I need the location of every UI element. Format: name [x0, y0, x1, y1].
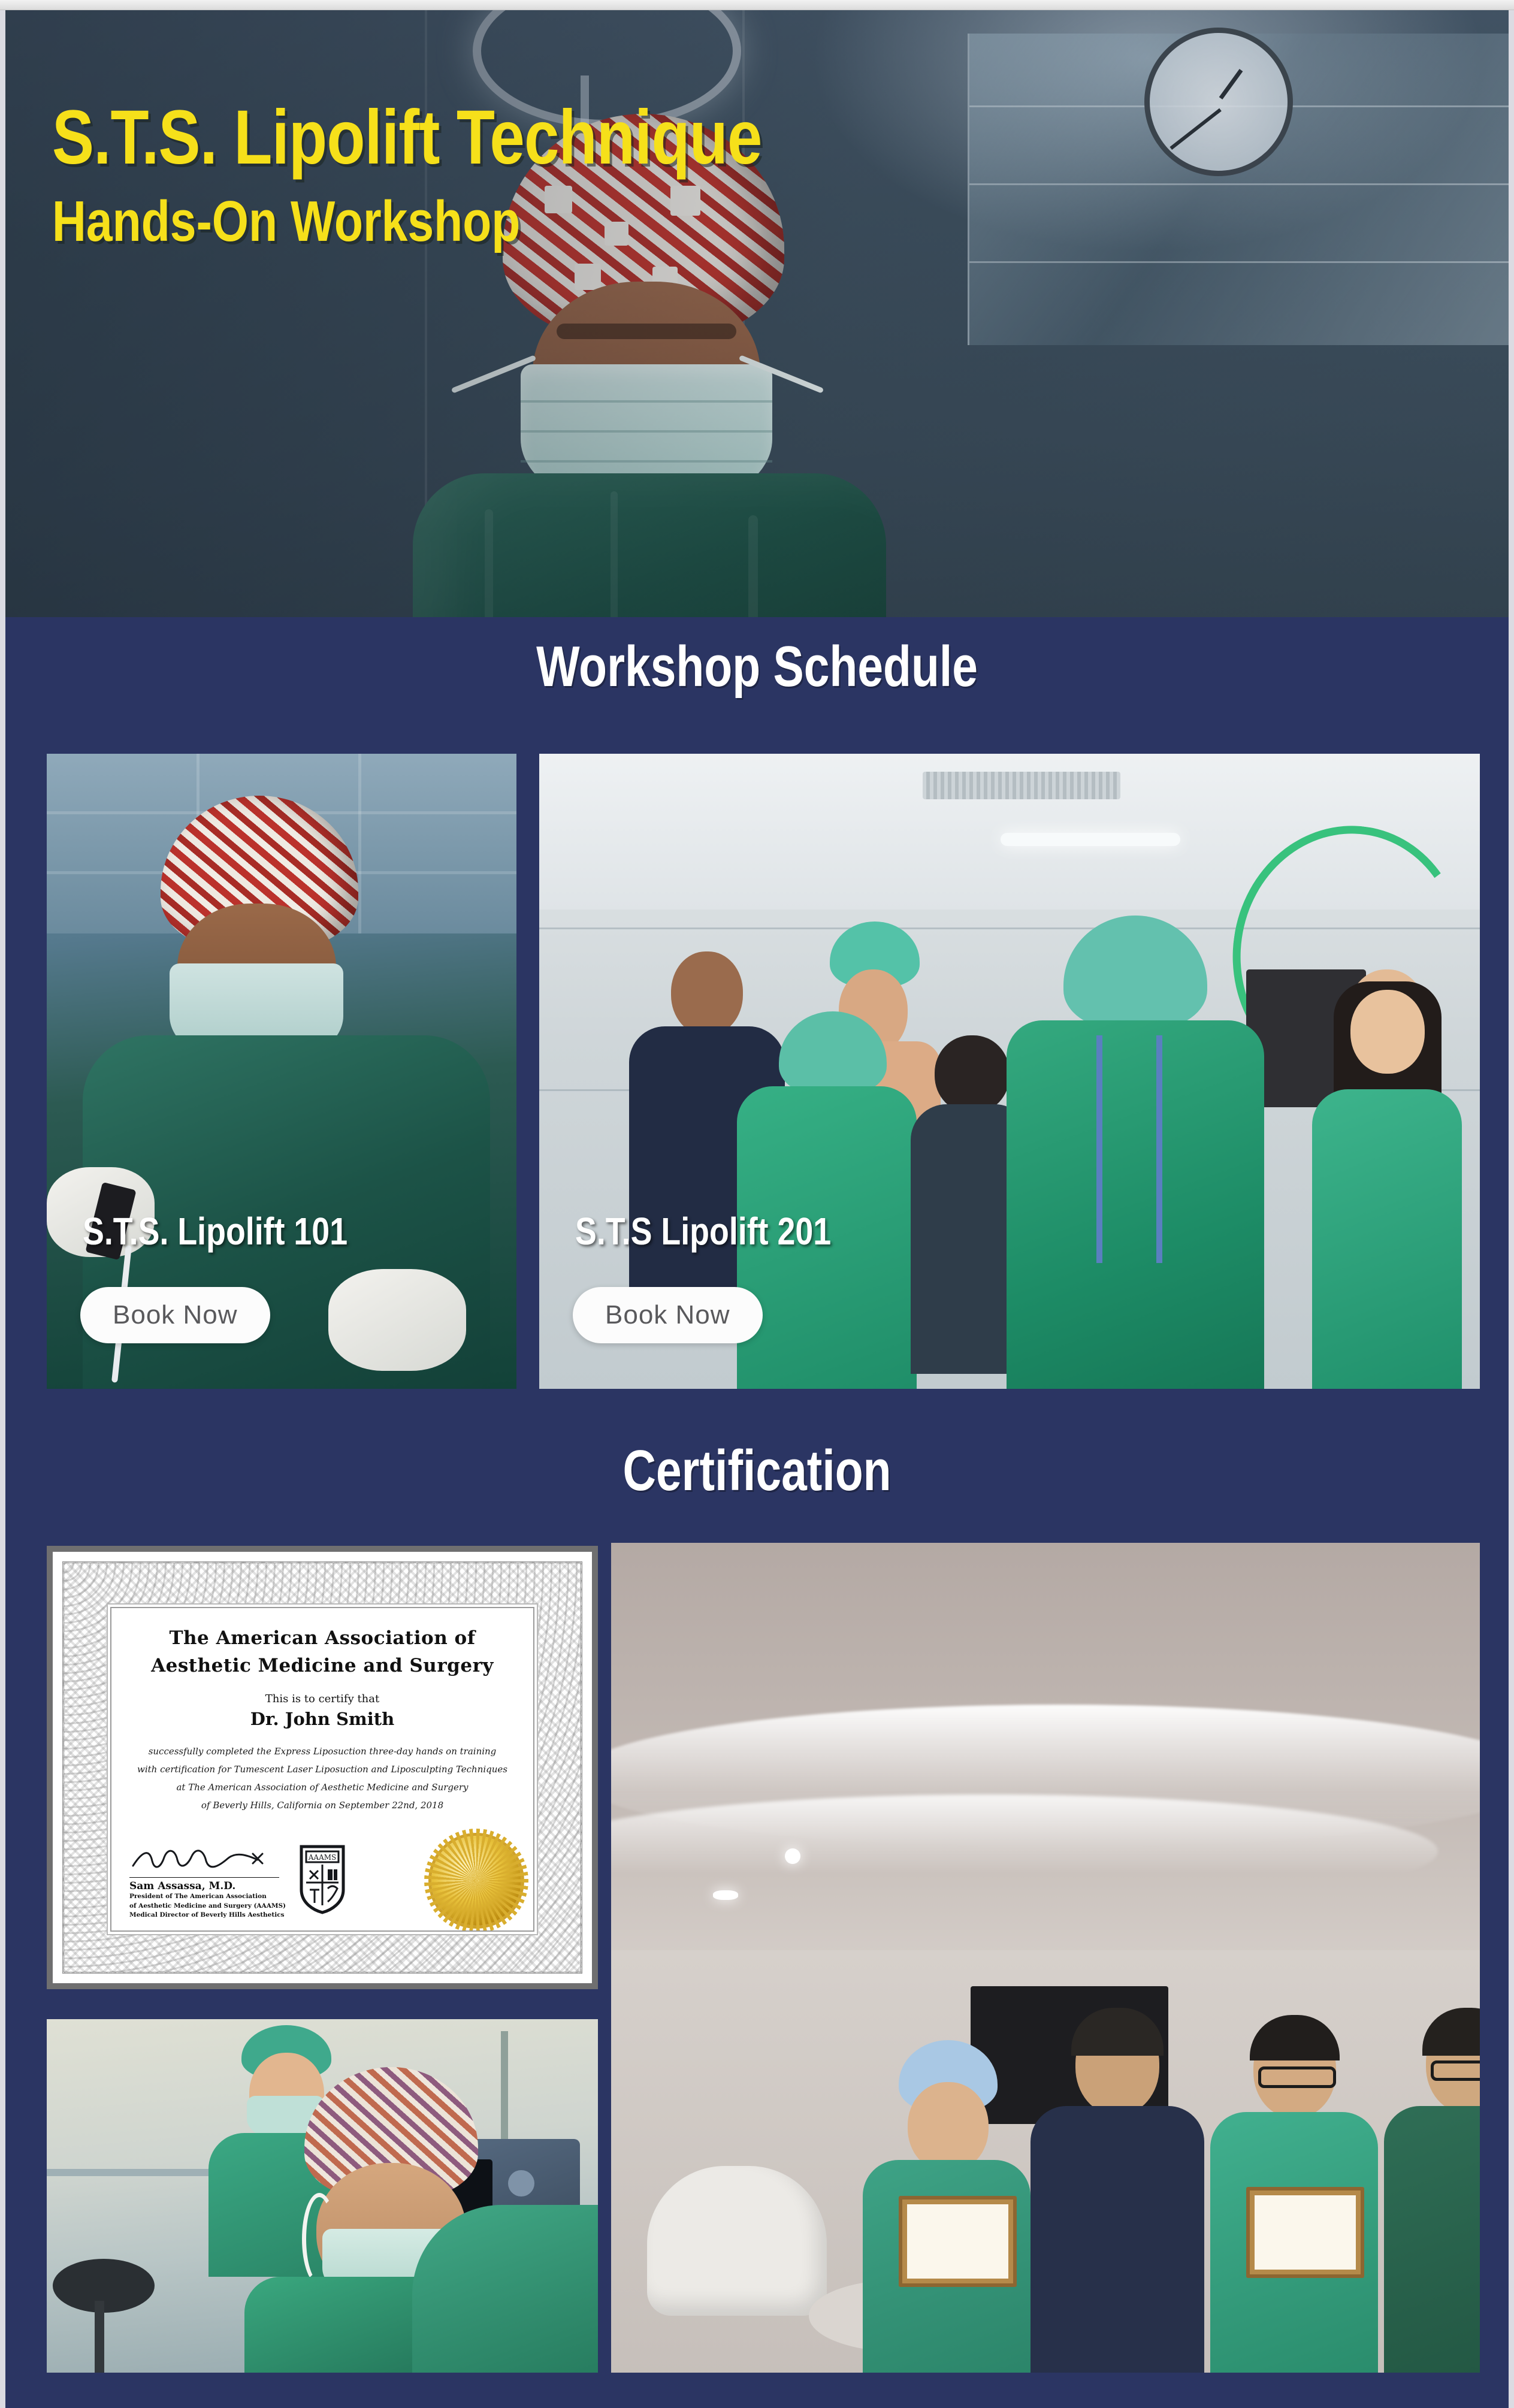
shield-crest-icon: AAAMS [297, 1843, 348, 1915]
workshop-card-lipolift-201[interactable]: S.T.S Lipolift 201 Book Now [539, 754, 1480, 1389]
certificate-body-line: successfully completed the Express Lipos… [127, 1742, 518, 1760]
hero-banner: S.T.S. Lipolift Technique Hands-On Works… [5, 10, 1509, 617]
page-frame-left [0, 10, 5, 2408]
certificate-org-line-2: Aesthetic Medicine and Surgery [127, 1654, 518, 1678]
signature-icon [129, 1845, 267, 1873]
workshop-schedule-heading: Workshop Schedule [152, 634, 1363, 700]
page-frame-right [1509, 10, 1514, 2408]
certificate-body-line: at The American Association of Aesthetic… [127, 1778, 518, 1796]
certificate-signer-title: of Aesthetic Medicine and Surgery (AAAMS… [129, 1902, 286, 1911]
operating-room-photo [47, 2019, 598, 2373]
certificate-body-line: with certification for Tumescent Laser L… [127, 1760, 518, 1778]
eyeglasses-icon [1258, 2066, 1336, 2088]
award-plaque [1246, 2187, 1364, 2278]
gold-seal-icon [431, 1836, 521, 1926]
workshop-card-101-title: S.T.S. Lipolift 101 [83, 1209, 347, 1253]
certificate-signer-title: Medical Director of Beverly Hills Aesthe… [129, 1911, 286, 1920]
hero-text-block: S.T.S. Lipolift Technique Hands-On Works… [52, 99, 918, 250]
certificate-document[interactable]: The American Association of Aesthetic Me… [47, 1546, 598, 1989]
certificate-signature-block: Sam Assassa, M.D. President of The Ameri… [129, 1845, 286, 1920]
workshop-card-201-title: S.T.S Lipolift 201 [575, 1209, 831, 1253]
certificate-signer-name: Sam Assassa, M.D. [129, 1880, 286, 1892]
certificate-org-line-1: The American Association of [127, 1626, 518, 1650]
eyeglasses-icon [1431, 2060, 1480, 2081]
book-now-button-101[interactable]: Book Now [80, 1287, 270, 1343]
browser-chrome-strip [0, 0, 1514, 10]
certificate-recipient-name: Dr. John Smith [127, 1709, 518, 1729]
certification-heading: Certification [152, 1438, 1363, 1504]
hero-subtitle: Hands-On Workshop [52, 193, 762, 250]
certification-group-photo [611, 1543, 1480, 2373]
award-plaque [899, 2196, 1017, 2287]
book-now-button-201[interactable]: Book Now [573, 1287, 763, 1343]
page-title: S.T.S. Lipolift Technique [52, 99, 762, 176]
shield-text: AAAMS [308, 1853, 337, 1862]
certificate-body-line: of Beverly Hills, California on Septembe… [127, 1796, 518, 1814]
certificate-signer-title: President of The American Association [129, 1892, 286, 1901]
workshop-landing-page: S.T.S. Lipolift Technique Hands-On Works… [0, 0, 1514, 2408]
certificate-certify-label: This is to certify that [127, 1693, 518, 1705]
workshop-card-lipolift-101[interactable]: S.T.S. Lipolift 101 Book Now [47, 754, 516, 1389]
